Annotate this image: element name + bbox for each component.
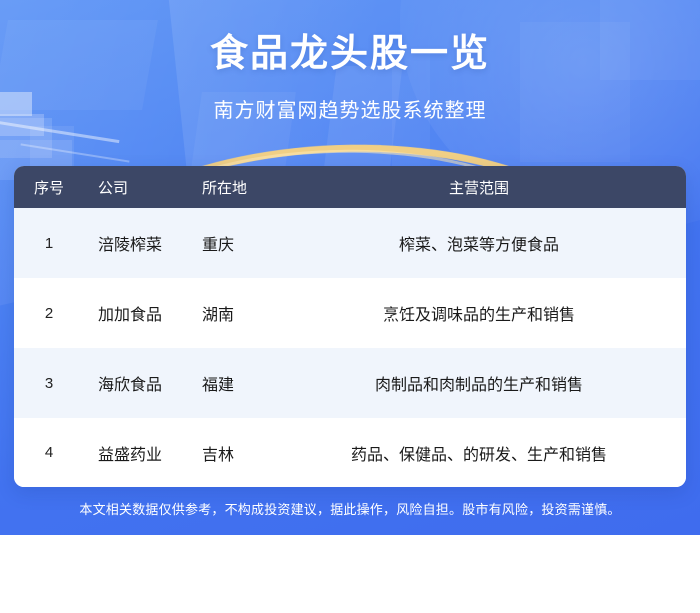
cell-location: 重庆 (194, 231, 314, 255)
cell-scope: 药品、保健品、的研发、生产和销售 (314, 441, 686, 465)
page-subtitle: 南方财富网趋势选股系统整理 (0, 97, 700, 125)
column-header-index: 序号 (14, 177, 84, 198)
cell-company: 加加食品 (84, 301, 194, 325)
cell-index: 2 (14, 305, 84, 322)
cell-company: 益盛药业 (84, 441, 194, 465)
cell-company: 海欣食品 (84, 371, 194, 395)
stock-table: 序号 公司 所在地 主营范围 南方财富网 Southmoney.com 1 涪陵… (14, 166, 686, 487)
disclaimer-text: 本文相关数据仅供参考，不构成投资建议，据此操作，风险自担。股市有风险，投资需谨慎… (0, 500, 700, 520)
column-header-location: 所在地 (194, 177, 314, 198)
cell-scope: 烹饪及调味品的生产和销售 (314, 301, 686, 325)
cell-company: 涪陵榨菜 (84, 231, 194, 255)
cell-location: 湖南 (194, 301, 314, 325)
cell-scope: 榨菜、泡菜等方便食品 (314, 231, 686, 255)
column-header-company: 公司 (84, 177, 194, 198)
cell-location: 吉林 (194, 441, 314, 465)
table-row[interactable]: 3 海欣食品 福建 肉制品和肉制品的生产和销售 (14, 348, 686, 418)
table-row[interactable]: 1 涪陵榨菜 重庆 榨菜、泡菜等方便食品 (14, 208, 686, 278)
page-title: 食品龙头股一览 (0, 30, 700, 78)
cell-index: 4 (14, 444, 84, 461)
cell-scope: 肉制品和肉制品的生产和销售 (314, 371, 686, 395)
infographic-page: 食品龙头股一览 南方财富网趋势选股系统整理 序号 公司 所在地 主营范围 南方财… (0, 0, 700, 613)
hero-banner: 食品龙头股一览 南方财富网趋势选股系统整理 序号 公司 所在地 主营范围 南方财… (0, 0, 700, 535)
table-header-row: 序号 公司 所在地 主营范围 (14, 166, 686, 208)
cell-index: 1 (14, 235, 84, 252)
table-body: 南方财富网 Southmoney.com 1 涪陵榨菜 重庆 榨菜、泡菜等方便食… (14, 208, 686, 487)
table-row[interactable]: 4 益盛药业 吉林 药品、保健品、的研发、生产和销售 (14, 418, 686, 487)
column-header-scope: 主营范围 (314, 177, 686, 198)
cell-index: 3 (14, 375, 84, 392)
cell-location: 福建 (194, 371, 314, 395)
table-row[interactable]: 2 加加食品 湖南 烹饪及调味品的生产和销售 (14, 278, 686, 348)
